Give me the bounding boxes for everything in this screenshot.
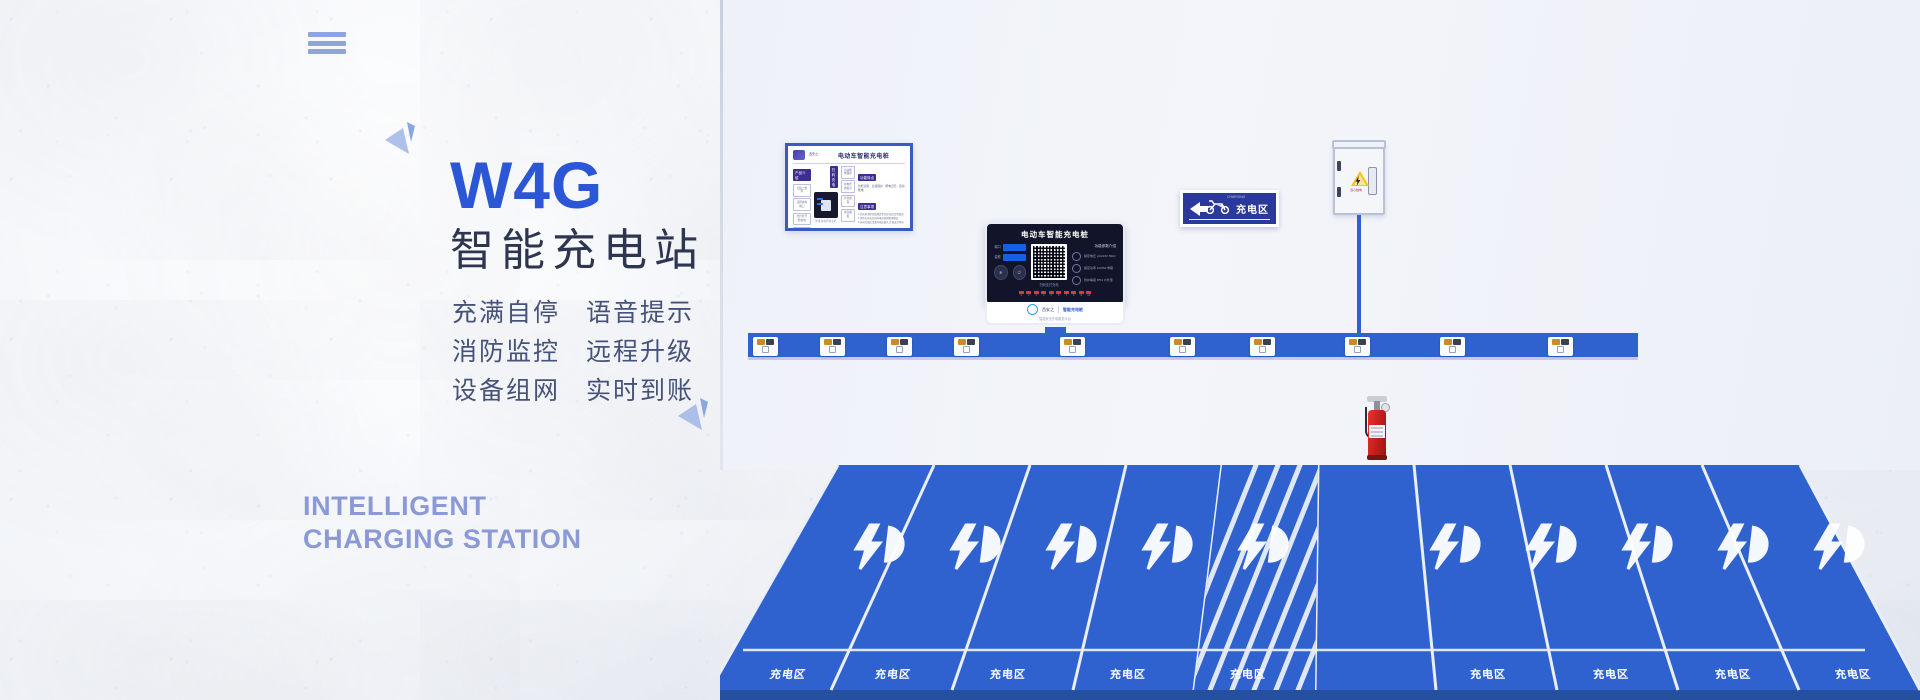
hamburger-menu-icon[interactable]: [308, 32, 346, 54]
wall-poster: 西安之 电动车智能充电桩 产品介绍 扫描二维码 选择充电端口 支付并开始充电 充…: [785, 143, 913, 231]
charging-pile-qr-caption: 扫码支付充电: [1031, 282, 1067, 287]
display-label: 端口: [994, 246, 1001, 250]
charging-pile-display-row: 金额: [994, 254, 1026, 261]
scene-wall: [720, 0, 1920, 470]
charging-pile-title: 电动车智能充电桩: [994, 229, 1116, 240]
power-socket-icon[interactable]: [820, 337, 845, 356]
poster-columns: 产品介绍 扫描二维码 选择充电端口 支付并开始充电 充电完成 扫码充电 智能充电…: [793, 166, 905, 231]
charging-pile-led-row: 1 2 3 4 5 6 7 8 9 10: [994, 291, 1116, 297]
decorative-arrow-icon-top: [383, 120, 425, 162]
port-led: 1: [1019, 291, 1024, 297]
spec-bullet-icon: [1072, 276, 1081, 285]
feature-item: 远程升级: [586, 335, 694, 368]
power-knob-icon[interactable]: ⏻: [1013, 265, 1027, 280]
cabinet-top: [1332, 140, 1386, 149]
poster-col-left: 产品介绍 扫描二维码 选择充电端口 支付并开始充电 充电完成: [793, 166, 811, 231]
power-socket-icon[interactable]: [753, 337, 778, 356]
spec-row: 额定电压 AC220V 50Hz: [1072, 252, 1116, 261]
poster-device-image: [814, 192, 838, 218]
feature-row: 消防监控 远程升级: [452, 335, 694, 368]
poster-chip-notice: 注意事项: [858, 203, 876, 210]
parking-floor: 充电区 充电区 充电区 充电区 充电区 充电区 充电区 充电区 充电区: [720, 455, 1920, 700]
port-led: 3: [1034, 291, 1039, 297]
poster-header: 西安之 电动车智能充电桩: [793, 150, 905, 160]
english-tagline-line2: CHARGING STATION: [303, 523, 582, 556]
feature-row: 设备组网 实时到账: [452, 374, 694, 407]
feature-item: 消防监控: [452, 335, 560, 368]
feature-item: 语音提示: [586, 296, 694, 329]
display-segment: [1003, 254, 1026, 261]
footer-note: 智能安全充电服务平台: [1039, 316, 1071, 321]
charging-pile-unit: 电动车智能充电桩 端口 金额 ✻ ⏻: [985, 222, 1125, 306]
footer-model: 智能充电桩: [1063, 307, 1083, 313]
port-led: 4: [1041, 291, 1046, 297]
poster-side-node: 语音播报: [841, 209, 855, 222]
english-tagline-line1: INTELLIGENT: [303, 490, 582, 523]
spec-bullet-icon: [1072, 252, 1081, 261]
english-tagline: INTELLIGENT CHARGING STATION: [303, 490, 582, 556]
poster-col-side: 自动断电保护 充电状态提示 异常报警 语音播报: [841, 166, 855, 231]
direction-sign-note: CHARGING: [1227, 195, 1245, 199]
port-led: 2: [1026, 291, 1031, 297]
poster-qr-right-wrap: 支付宝: [883, 227, 905, 231]
poster-chip-mid: 扫码充电: [830, 166, 838, 188]
power-socket-icon[interactable]: [887, 337, 912, 356]
poster-flow-node: 选择充电端口: [793, 198, 811, 211]
spec-row: 防护等级 IP54 户外型: [1072, 276, 1116, 285]
spec-text: 额定功率 1000W 单路: [1084, 266, 1113, 270]
electrical-cabinet: 当心触电: [1333, 143, 1385, 215]
footer-divider: [1058, 306, 1059, 313]
brand-logo-icon: [1027, 304, 1038, 315]
display-segment: [1003, 244, 1026, 251]
port-led: 8: [1071, 291, 1076, 297]
port-led: 9: [1079, 291, 1084, 297]
charging-pile-qr-block: 扫码支付充电: [1031, 244, 1067, 287]
power-socket-icon[interactable]: [1170, 337, 1195, 356]
poster-title: 电动车智能充电桩: [822, 151, 905, 160]
power-socket-icon[interactable]: [954, 337, 979, 356]
e-bike-icon: [1205, 199, 1231, 219]
poster-brand: 西安之: [809, 153, 818, 156]
wall-edge: [720, 0, 723, 470]
charging-pile-body: 端口 金额 ✻ ⏻ 扫码支付充电: [994, 244, 1116, 288]
port-led: 5: [1049, 291, 1054, 297]
spec-heading: 功能参数介绍: [1072, 244, 1116, 249]
banner-stage: W4G 智能充电站 充满自停 语音提示 消防监控 远程升级 设备组网 实时到账 …: [0, 0, 1920, 700]
spec-text: 防护等级 IP54 户外型: [1084, 278, 1113, 282]
poster-qr-group: 微信扫码 支付宝: [858, 227, 905, 231]
poster-chip-right: 功能特点: [858, 174, 876, 181]
charging-pile-footer: 西安之 智能充电桩 智能安全充电服务平台: [985, 302, 1125, 325]
fan-knob-icon[interactable]: ✻: [994, 265, 1008, 280]
spec-text: 额定电压 AC220V 50Hz: [1084, 254, 1116, 258]
charging-pile-display-panel: 端口 金额 ✻ ⏻: [994, 244, 1026, 280]
feature-list: 充满自停 语音提示 消防监控 远程升级 设备组网 实时到账: [452, 296, 694, 413]
poster-right-text: 智能识别 · 过载保护 · 断电记忆 · 自动断电: [858, 184, 905, 193]
poster-qr-left-wrap: 微信扫码: [858, 227, 880, 231]
port-led: 6: [1056, 291, 1061, 297]
socket-rail-shadow: [748, 357, 1638, 360]
power-socket-icon[interactable]: [1548, 337, 1573, 356]
poster-side-node: 异常报警: [841, 195, 855, 208]
poster-qr-right-caption: 支付宝: [883, 227, 905, 231]
footer-brand: 西安之: [1042, 307, 1054, 313]
poster-side-node: 自动断电保护: [841, 166, 855, 179]
lightning-bolt-icon: [1355, 176, 1361, 186]
display-label: 金额: [994, 256, 1001, 260]
poster-flow-node: 充电完成: [793, 227, 811, 231]
qr-code-icon[interactable]: [1031, 244, 1067, 280]
poster-divider: [793, 163, 905, 164]
cabinet-handle[interactable]: [1368, 167, 1377, 195]
charging-station-illustration: 西安之 电动车智能充电桩 产品介绍 扫描二维码 选择充电端口 支付并开始充电 充…: [720, 0, 1920, 700]
poster-col-mid: 扫码充电 智能充电控制主机: [814, 166, 838, 231]
power-socket-icon[interactable]: [1060, 337, 1085, 356]
charging-pile-footer-row: 西安之 智能充电桩: [1027, 304, 1083, 315]
poster-chip-left: 产品介绍: [793, 169, 811, 181]
poster-side-node: 充电状态提示: [841, 180, 855, 193]
poster-notice-item: 3.充电完成后请及时拔出插头,注意安全用电: [858, 221, 905, 225]
feature-item: 充满自停: [452, 296, 560, 329]
poster-device-caption: 智能充电控制主机: [814, 219, 838, 223]
feature-item: 设备组网: [452, 374, 560, 407]
spec-row: 额定功率 1000W 单路: [1072, 264, 1116, 273]
spec-bullet-icon: [1072, 264, 1081, 273]
power-socket-icon[interactable]: [1440, 337, 1465, 356]
feature-item: 实时到账: [586, 374, 694, 407]
feature-row: 充满自停 语音提示: [452, 296, 694, 329]
charging-pile-display-row: 端口: [994, 244, 1026, 251]
power-socket-icon[interactable]: [1345, 337, 1370, 356]
arrow-left-icon: [1190, 202, 1200, 216]
poster-col-right: 功能特点 智能识别 · 过载保护 · 断电记忆 · 自动断电 注意事项 1.充电…: [858, 166, 905, 231]
power-socket-icon[interactable]: [1250, 337, 1275, 356]
port-led: 10: [1086, 291, 1091, 297]
direction-sign: CHARGING 充电区: [1180, 190, 1279, 227]
parking-bays-group: [720, 455, 1920, 700]
poster-flow-node: 扫描二维码: [793, 184, 811, 197]
cabinet-hinge: [1337, 161, 1341, 171]
charging-pile-knobs: ✻ ⏻: [994, 265, 1026, 280]
poster-flow-node: 支付并开始充电: [793, 213, 811, 226]
direction-sign-underline: [1189, 219, 1270, 221]
poster-logo-icon: [793, 150, 805, 160]
extinguisher-label: [1369, 425, 1385, 438]
direction-sign-label: 充电区: [1236, 201, 1269, 216]
cabinet-warning-label: 当心触电: [1345, 188, 1367, 192]
port-led: 7: [1064, 291, 1069, 297]
charging-pile-spec-panel: 功能参数介绍 额定电压 AC220V 50Hz 额定功率 1000W 单路 防护…: [1072, 244, 1116, 288]
poster-qr-left-caption: 微信扫码: [858, 227, 880, 231]
cabinet-hinge: [1337, 187, 1341, 197]
